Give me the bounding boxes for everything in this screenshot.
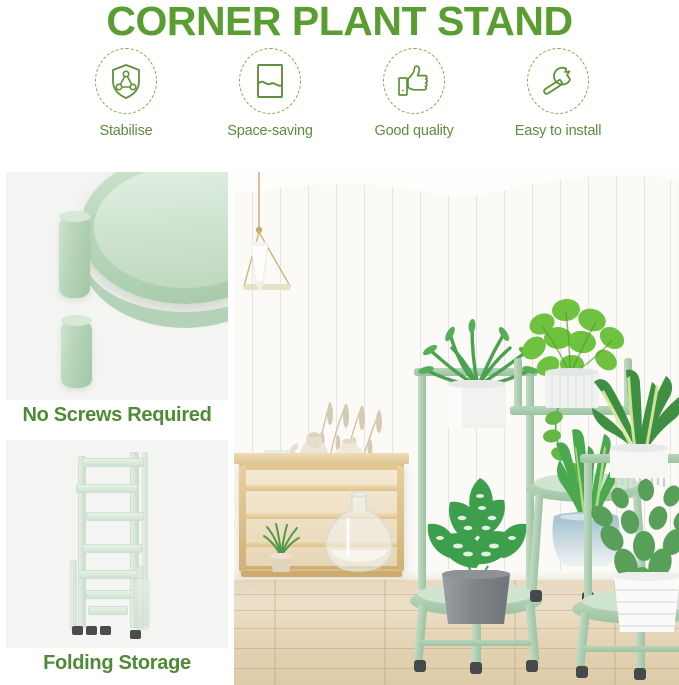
shield-icon bbox=[95, 48, 157, 114]
panel-folding-storage bbox=[6, 440, 228, 648]
leg-post-inserted bbox=[59, 216, 90, 298]
feature-item-stabilise: Stabilise bbox=[62, 48, 190, 139]
thumbs-up-icon bbox=[383, 48, 445, 114]
feature-label: Space-saving bbox=[227, 123, 312, 139]
feature-item-easy-install: Easy to install bbox=[494, 48, 622, 139]
panel-caption: Folding Storage bbox=[6, 652, 228, 675]
white-striped-pot bbox=[608, 572, 679, 634]
tray-detail-illustration bbox=[6, 172, 228, 400]
leg-post-separate bbox=[61, 320, 92, 388]
feature-label: Good quality bbox=[374, 123, 453, 139]
small-grass-plant bbox=[258, 522, 304, 574]
page-title: CORNER PLANT STAND bbox=[0, 0, 679, 45]
wrench-icon bbox=[527, 48, 589, 114]
room-scene bbox=[234, 172, 679, 685]
glass-demijohn bbox=[318, 492, 400, 574]
folded-stand-illustration bbox=[26, 450, 212, 640]
hanging-planter bbox=[242, 172, 312, 370]
panel-caption: No Screws Required bbox=[6, 404, 228, 427]
feature-item-good-quality: Good quality bbox=[350, 48, 478, 139]
white-cylinder-pot bbox=[446, 380, 508, 430]
product-infographic: CORNER PLANT STAND Stabilise bbox=[0, 0, 679, 685]
feature-list: Stabilise Space-saving Good quality bbox=[62, 48, 622, 160]
panel-no-screws bbox=[6, 172, 228, 400]
grey-pot bbox=[438, 570, 514, 626]
feature-item-space-saving: Space-saving bbox=[206, 48, 334, 139]
feature-label: Easy to install bbox=[515, 123, 601, 139]
feature-label: Stabilise bbox=[99, 123, 152, 139]
space-saving-icon bbox=[239, 48, 301, 114]
